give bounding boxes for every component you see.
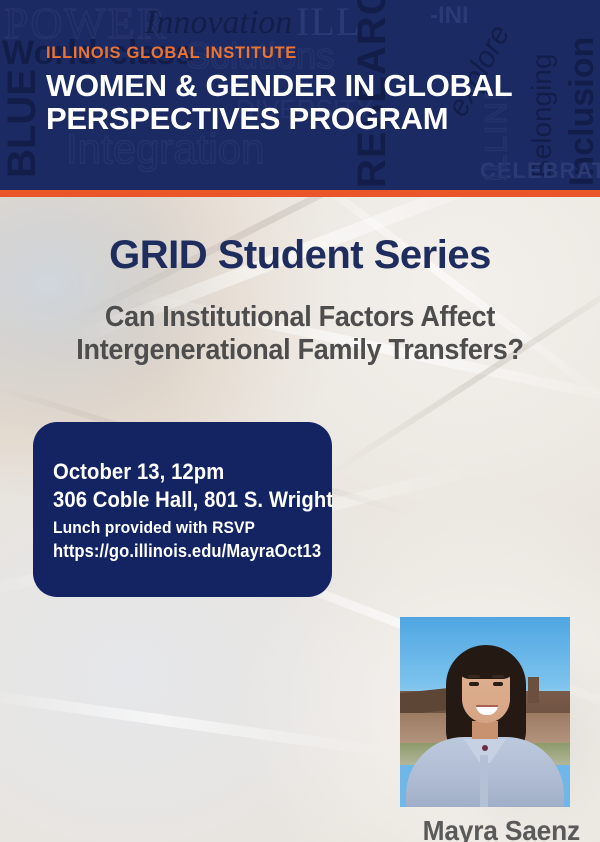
photo-eyebrow-left xyxy=(468,675,480,678)
wordcloud-word-inclusion: Inclusion xyxy=(565,37,599,186)
orange-divider-bar xyxy=(0,190,600,197)
background-streak-5 xyxy=(0,688,389,757)
flyer-page: POWER Innovation ILL -INI Belonging Incl… xyxy=(0,0,600,842)
event-location: 306 Coble Hall, 801 S. Wright xyxy=(53,486,297,514)
photo-eye-right xyxy=(493,682,503,686)
wordcloud-word-blue: BLUE xyxy=(2,69,42,178)
header-text-block: ILLINOIS GLOBAL INSTITUTE WOMEN & GENDER… xyxy=(46,44,566,136)
talk-title-line1: Can Institutional Factors Affect xyxy=(105,301,495,333)
rsvp-link[interactable]: https://go.illinois.edu/MayraOct13 xyxy=(53,539,297,563)
speaker-name: Mayra Saenz xyxy=(317,815,580,842)
event-date-time: October 13, 12pm xyxy=(53,458,297,486)
photo-necklace-pendant xyxy=(482,745,488,751)
program-title-line1: WOMEN & GENDER IN GLOBAL xyxy=(46,68,512,103)
talk-title-line2: Intergenerational Family Transfers? xyxy=(49,334,551,367)
wordcloud-word-celebration: CELEBRATION xyxy=(480,160,600,182)
series-title: GRID Student Series xyxy=(0,233,600,278)
wordcloud-word-innovation: Innovation xyxy=(145,6,292,40)
program-title: WOMEN & GENDER IN GLOBAL PERSPECTIVES PR… xyxy=(46,69,566,136)
header-banner: POWER Innovation ILL -INI Belonging Incl… xyxy=(0,0,600,190)
talk-title: Can Institutional Factors Affect Interge… xyxy=(49,301,551,367)
speaker-photo xyxy=(400,617,570,807)
photo-eye-left xyxy=(469,682,479,686)
photo-eyebrow-right xyxy=(492,675,504,678)
wordcloud-word-ini: -INI xyxy=(430,4,469,28)
institute-name: ILLINOIS GLOBAL INSTITUTE xyxy=(46,44,566,63)
body-content-area: GRID Student Series Can Institutional Fa… xyxy=(0,197,600,842)
event-lunch-note: Lunch provided with RSVP xyxy=(53,516,297,539)
photo-chimney xyxy=(528,677,539,703)
event-details-text: October 13, 12pm 306 Coble Hall, 801 S. … xyxy=(53,458,318,564)
event-details-card: October 13, 12pm 306 Coble Hall, 801 S. … xyxy=(33,422,332,597)
background-shadow-streak-3 xyxy=(329,264,600,476)
photo-shirt-placket xyxy=(480,755,488,807)
wordcloud-word-ill: ILL xyxy=(296,2,361,42)
photo-hair-front xyxy=(458,649,514,679)
program-title-line2: PERSPECTIVES PROGRAM xyxy=(46,102,566,135)
wordcloud-word-power: POWER xyxy=(4,2,168,46)
